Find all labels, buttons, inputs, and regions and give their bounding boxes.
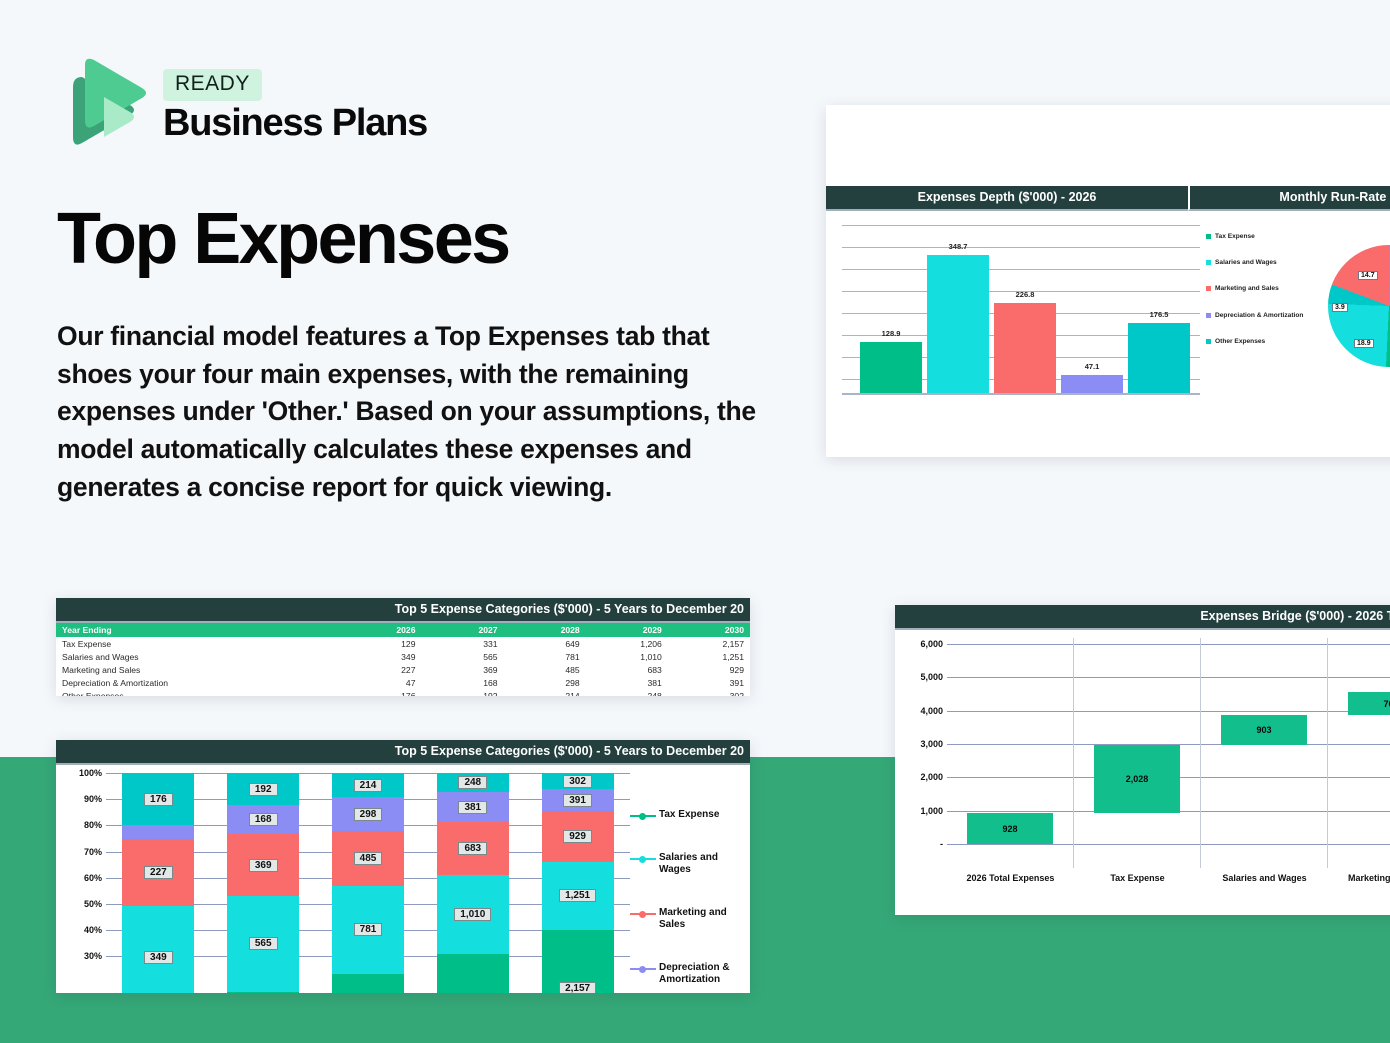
- bridge-category-labels: 2026 Total ExpensesTax ExpenseSalaries a…: [947, 868, 1390, 883]
- stacked-segment: 649: [332, 974, 404, 993]
- stacked-segment-value: 381: [458, 801, 487, 814]
- table-cell: 214: [504, 689, 586, 696]
- stacked-segment-value: 298: [354, 808, 383, 821]
- table-cell: Tax Expense: [56, 637, 345, 650]
- stacked-segment-value: 1,010: [454, 908, 491, 921]
- legend-swatch: [1206, 260, 1211, 265]
- stacked-segment: 176: [122, 773, 194, 825]
- legend-item: Depreciation & Amortization: [630, 962, 750, 986]
- bridge-chart-title: Expenses Bridge ($'000) - 2026 Total Exp…: [895, 605, 1390, 630]
- stacked-segment: 485: [332, 831, 404, 886]
- runrate-chart-title: Monthly Run-Rate ($'000) -: [1188, 186, 1390, 211]
- bridge-bar: 702: [1348, 692, 1390, 715]
- stacked-y-axis: 100%90%80%70%60%50%40%30%: [56, 765, 106, 983]
- depth-bar-value: 128.9: [860, 329, 922, 338]
- legend-label: Salaries and Wages: [659, 852, 750, 876]
- table-body: Tax Expense1293316491,2062,157Salaries a…: [56, 637, 750, 696]
- table-cell: 192: [421, 689, 503, 696]
- stacked-segment: 168: [227, 805, 299, 833]
- table-cell: 781: [504, 650, 586, 663]
- y-axis-tick: 40%: [84, 925, 102, 935]
- legend-marker: [630, 811, 656, 821]
- stacked-segment-value: 369: [249, 859, 278, 872]
- legend-item: Salaries and Wages: [1206, 259, 1312, 267]
- table-cell: Salaries and Wages: [56, 650, 345, 663]
- legend-marker: [630, 854, 656, 864]
- stacked-segment: 331: [227, 992, 299, 993]
- table-cell: 381: [586, 676, 668, 689]
- table-cell: 168: [421, 676, 503, 689]
- table-cell: 2,157: [668, 637, 750, 650]
- stacked-segment: 381: [437, 792, 509, 822]
- stacked-segment: 391: [542, 789, 614, 810]
- legend-label: Marketing and Sales: [659, 907, 750, 931]
- bridge-bar: 903: [1221, 715, 1307, 745]
- pie-slice-label: 18.9: [1354, 339, 1374, 348]
- ready-badge: READY: [163, 69, 262, 101]
- legend-item: Marketing and Sales: [1206, 285, 1312, 293]
- bridge-column: 2,028: [1074, 638, 1201, 868]
- depth-bar: 226.8: [994, 303, 1056, 394]
- pie-slice-label: 3.9: [1332, 303, 1348, 312]
- stacked-segment-value: 1,251: [559, 889, 596, 902]
- table-cell: 369: [421, 663, 503, 676]
- stacked-segment: 565: [227, 896, 299, 991]
- stacked-segment-value: 683: [458, 842, 487, 855]
- stacked-segment: 1,010: [437, 875, 509, 954]
- legend-label: Marketing and Sales: [1215, 285, 1279, 293]
- depth-bar-value: 348.7: [927, 242, 989, 251]
- stacked-column: 176227349129: [122, 765, 194, 983]
- legend-item: Tax Expense: [630, 809, 750, 821]
- legend-label: Tax Expense: [1215, 233, 1255, 241]
- table-row: Marketing and Sales227369485683929: [56, 663, 750, 676]
- table-column-header: Year Ending: [56, 623, 345, 637]
- legend-item: Tax Expense: [1206, 233, 1312, 241]
- brand-logo: READY Business Plans: [57, 57, 427, 157]
- runrate-pie-chart: 10.714.73.918.9: [1312, 211, 1390, 395]
- stacked-segment-value: 176: [144, 793, 173, 806]
- stacked-segment-value: 302: [563, 775, 592, 788]
- page-title: Top Expenses: [57, 203, 509, 275]
- stacked-segment-value: 227: [144, 866, 173, 879]
- table-title: Top 5 Expense Categories ($'000) - 5 Yea…: [56, 598, 750, 623]
- depth-legend: Tax ExpenseSalaries and WagesMarketing a…: [1200, 211, 1312, 395]
- y-axis-tick: 60%: [84, 873, 102, 883]
- table-column-header: 2029: [586, 623, 668, 637]
- legend-swatch: [1206, 234, 1211, 239]
- table-cell: 331: [421, 637, 503, 650]
- table-cell: 1,251: [668, 650, 750, 663]
- table-cell: 485: [504, 663, 586, 676]
- stacked-segment: 302: [542, 773, 614, 789]
- y-axis-tick: 100%: [79, 768, 102, 778]
- table-cell: 47: [345, 676, 421, 689]
- stacked-segment: 929: [542, 811, 614, 862]
- bridge-y-axis: 6,0005,0004,0003,0002,0001,000-: [895, 638, 947, 868]
- table-cell: Other Expenses: [56, 689, 345, 696]
- y-axis-tick: -: [940, 839, 943, 849]
- table-cell: 349: [345, 650, 421, 663]
- bridge-column: 702: [1328, 638, 1390, 868]
- y-axis-tick: 2,000: [920, 772, 943, 782]
- table-cell: 565: [421, 650, 503, 663]
- play-triangle-logo-icon: [57, 57, 149, 157]
- expense-categories-stacked-panel: Top 5 Expense Categories ($'000) - 5 Yea…: [56, 740, 750, 993]
- stacked-segment: 1,206: [437, 954, 509, 993]
- y-axis-tick: 80%: [84, 820, 102, 830]
- bridge-plot: 6,0005,0004,0003,0002,0001,000- 9282,028…: [895, 638, 1390, 868]
- stacked-chart-title: Top 5 Expense Categories ($'000) - 5 Yea…: [56, 740, 750, 765]
- legend-item: Marketing and Sales: [630, 907, 750, 931]
- legend-label: Salaries and Wages: [1215, 259, 1277, 267]
- bridge-category-label: 2026 Total Expenses: [947, 868, 1074, 883]
- stacked-segment: 298: [332, 797, 404, 831]
- page-description: Our financial model features a Top Expen…: [57, 318, 757, 506]
- legend-item: Depreciation & Amortization: [1206, 312, 1312, 320]
- y-axis-tick: 3,000: [920, 739, 943, 749]
- bridge-bar-value: 903: [1256, 725, 1271, 735]
- stacked-segment: 1,251: [542, 862, 614, 930]
- bridge-column: 903: [1201, 638, 1328, 868]
- legend-label: Depreciation & Amortization: [659, 962, 750, 986]
- bridge-category-label: Salaries and Wages: [1201, 868, 1328, 883]
- y-axis-tick: 30%: [84, 951, 102, 961]
- depth-bar: 47.1: [1061, 375, 1123, 394]
- table-cell: 1,206: [586, 637, 668, 650]
- table-cell: 302: [668, 689, 750, 696]
- stacked-segment: 248: [437, 773, 509, 792]
- table-cell: Depreciation & Amortization: [56, 676, 345, 689]
- stacked-segment: 227: [122, 839, 194, 906]
- y-axis-tick: 50%: [84, 899, 102, 909]
- stacked-segment: 349: [122, 906, 194, 993]
- table-column-header: 2028: [504, 623, 586, 637]
- table-cell: 248: [586, 689, 668, 696]
- table-cell: 129: [345, 637, 421, 650]
- stacked-segment: [122, 825, 194, 839]
- depth-bar: 176.5: [1128, 323, 1190, 394]
- stacked-segment-value: 565: [249, 937, 278, 950]
- bridge-columns: 9282,028903702: [947, 638, 1390, 868]
- stacked-segment-value: 349: [144, 951, 173, 964]
- expense-categories-table: Year Ending20262027202820292030 Tax Expe…: [56, 623, 750, 696]
- legend-label: Other Expenses: [1215, 338, 1265, 346]
- table-row: Other Expenses176192214248302: [56, 689, 750, 696]
- legend-swatch: [1206, 339, 1211, 344]
- table-cell: 391: [668, 676, 750, 689]
- y-axis-tick: 1,000: [920, 806, 943, 816]
- stacked-segment-value: 168: [249, 813, 278, 826]
- pie-slice-label: 14.7: [1358, 271, 1378, 280]
- bridge-column: 928: [947, 638, 1074, 868]
- bridge-bar-value: 2,028: [1126, 774, 1149, 784]
- y-axis-tick: 70%: [84, 847, 102, 857]
- bridge-bar-value: 702: [1383, 699, 1390, 709]
- stacked-segment-value: 391: [563, 794, 592, 807]
- legend-swatch: [1206, 286, 1211, 291]
- stacked-segment: 369: [227, 834, 299, 896]
- table-column-header: 2026: [345, 623, 421, 637]
- depth-title-bar: Expenses Depth ($'000) - 2026 Monthly Ru…: [826, 186, 1390, 211]
- stacked-plot-area: 1762273491291921683695653312142984857816…: [106, 765, 630, 983]
- stacked-segment: 683: [437, 822, 509, 875]
- depth-chart-title: Expenses Depth ($'000) - 2026: [826, 186, 1188, 211]
- table-header-row: Year Ending20262027202820292030: [56, 623, 750, 637]
- stacked-segment: 192: [227, 773, 299, 805]
- stacked-segment-value: 929: [563, 830, 592, 843]
- table-cell: 1,010: [586, 650, 668, 663]
- bridge-bar-value: 928: [1002, 824, 1017, 834]
- legend-item: Other Expenses: [1206, 338, 1312, 346]
- table-cell: 227: [345, 663, 421, 676]
- stacked-column: 192168369565331: [227, 765, 299, 983]
- bridge-category-label: Marketing and Sales: [1328, 868, 1390, 883]
- bridge-plot-area: 9282,028903702: [947, 638, 1390, 868]
- depth-bar-value: 47.1: [1061, 362, 1123, 371]
- stacked-segment-value: 214: [354, 779, 383, 792]
- y-axis-tick: 6,000: [920, 639, 943, 649]
- y-axis-tick: 5,000: [920, 672, 943, 682]
- legend-label: Depreciation & Amortization: [1215, 312, 1303, 320]
- table-row: Tax Expense1293316491,2062,157: [56, 637, 750, 650]
- stacked-column: 2483816831,0101,206: [437, 765, 509, 983]
- stacked-segment-value: 2,157: [559, 982, 596, 993]
- legend-marker: [630, 964, 656, 974]
- table-cell: 298: [504, 676, 586, 689]
- bridge-category-label: Tax Expense: [1074, 868, 1201, 883]
- table-cell: 929: [668, 663, 750, 676]
- stacked-segment: 781: [332, 886, 404, 974]
- y-axis-tick: 4,000: [920, 706, 943, 716]
- expense-categories-table-panel: Top 5 Expense Categories ($'000) - 5 Yea…: [56, 598, 750, 696]
- depth-bar-chart: 128.9348.7226.847.1176.5: [842, 225, 1200, 395]
- stacked-segment: 2,157: [542, 930, 614, 993]
- legend-item: Salaries and Wages: [630, 852, 750, 876]
- depth-axis-line: [842, 393, 1200, 395]
- table-column-header: 2027: [421, 623, 503, 637]
- expenses-depth-panel: Expenses Depth ($'000) - 2026 Monthly Ru…: [826, 105, 1390, 457]
- table-column-header: 2030: [668, 623, 750, 637]
- depth-bar: 348.7: [927, 255, 989, 394]
- stacked-column: 214298485781649: [332, 765, 404, 983]
- depth-bars: 128.9348.7226.847.1176.5: [860, 234, 1190, 394]
- bridge-bar: 2,028: [1094, 745, 1180, 813]
- table-cell: 176: [345, 689, 421, 696]
- stacked-segment-value: 781: [354, 923, 383, 936]
- depth-bar-value: 176.5: [1128, 310, 1190, 319]
- pie-slices: 10.714.73.918.9: [1328, 245, 1390, 367]
- stacked-segment-value: 248: [458, 776, 487, 789]
- depth-bar-value: 226.8: [994, 290, 1056, 299]
- bridge-bar: 928: [967, 813, 1053, 844]
- table-row: Depreciation & Amortization4716829838139…: [56, 676, 750, 689]
- table-cell: 649: [504, 637, 586, 650]
- grid-line: [842, 225, 1200, 226]
- legend-marker: [630, 909, 656, 919]
- brand-name: Business Plans: [163, 103, 427, 145]
- stacked-column: 3023919291,2512,157: [542, 765, 614, 983]
- table-cell: Marketing and Sales: [56, 663, 345, 676]
- y-axis-tick: 90%: [84, 794, 102, 804]
- stacked-columns: 1762273491291921683695653312142984857816…: [106, 765, 630, 983]
- legend-swatch: [1206, 313, 1211, 318]
- legend-label: Tax Expense: [659, 809, 719, 821]
- stacked-segment-value: 192: [249, 783, 278, 796]
- expenses-bridge-panel: Expenses Bridge ($'000) - 2026 Total Exp…: [895, 605, 1390, 915]
- depth-bar: 128.9: [860, 342, 922, 394]
- stacked-segment-value: 485: [354, 852, 383, 865]
- stacked-legend: Tax ExpenseSalaries and WagesMarketing a…: [630, 765, 750, 983]
- table-row: Salaries and Wages3495657811,0101,251: [56, 650, 750, 663]
- table-cell: 683: [586, 663, 668, 676]
- stacked-segment: 214: [332, 773, 404, 797]
